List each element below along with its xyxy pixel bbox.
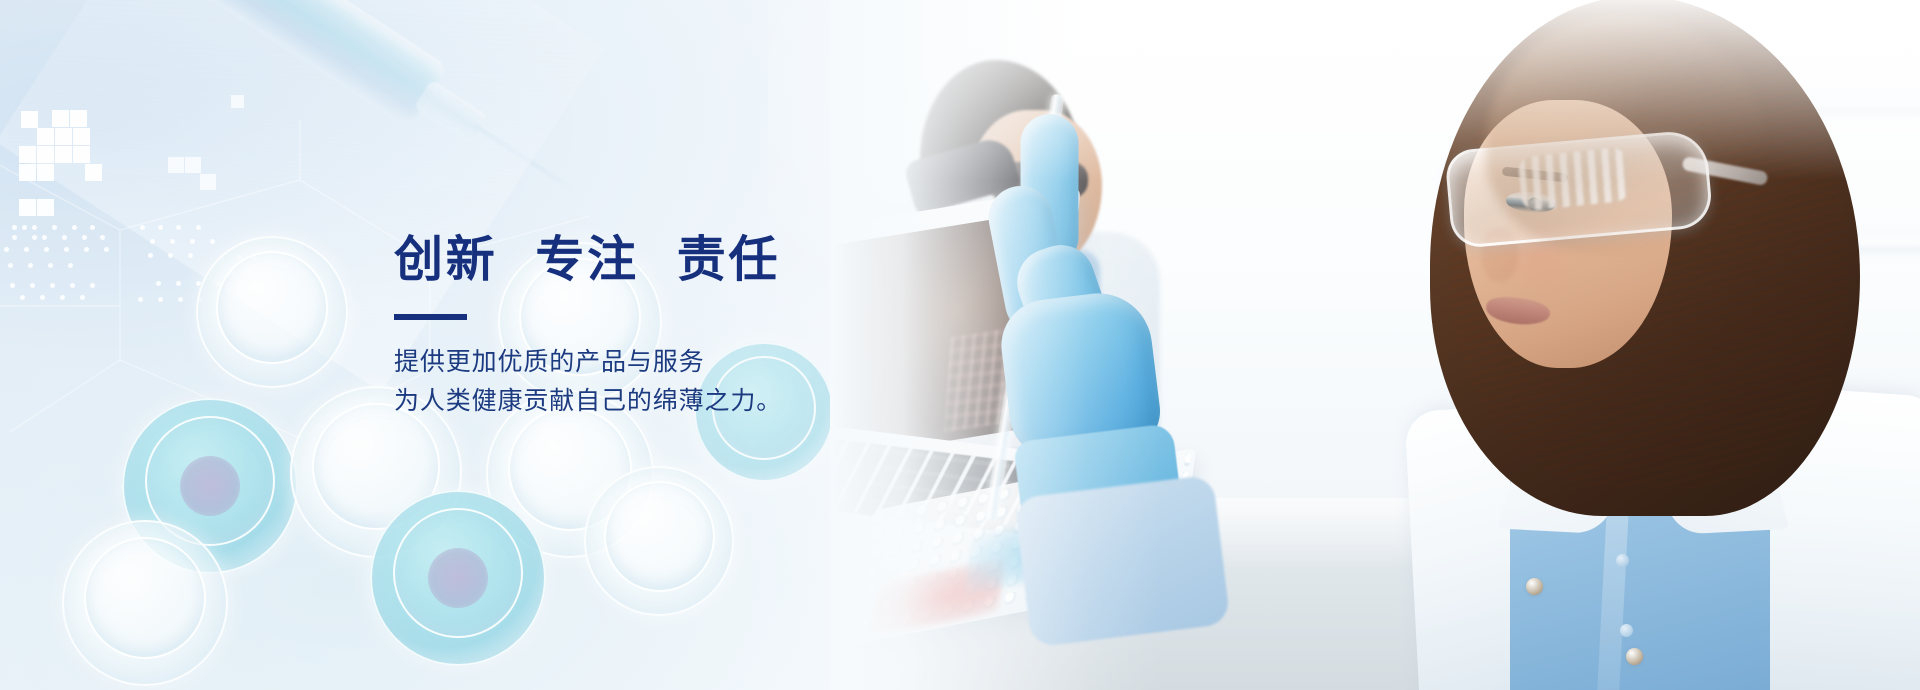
- petri-dish-core: [180, 456, 240, 516]
- hero-text-block: 创新专注责任 提供更加优质的产品与服务 为人类健康贡献自己的绵薄之力。: [394, 236, 782, 419]
- coat-button: [1626, 648, 1643, 665]
- pixel-square-decor: [200, 174, 216, 190]
- title-divider: [394, 314, 467, 320]
- petri-dish-rim: [604, 481, 715, 592]
- pixel-square-decor: [21, 111, 38, 128]
- petri-dish-rim: [84, 537, 207, 660]
- pixel-square-decor: [37, 164, 54, 181]
- pixel-square-decor: [73, 128, 90, 145]
- page-title: 创新专注责任: [394, 236, 782, 285]
- subtitle-line-1: 提供更加优质的产品与服务: [394, 344, 782, 381]
- pixel-square-decor: [19, 164, 36, 181]
- petri-dish-watermark: [62, 520, 228, 686]
- headline-word-2: 专注: [535, 233, 638, 287]
- lab-photo: [830, 0, 1920, 690]
- pixel-square-decor: [37, 146, 54, 163]
- pixel-square-decor: [85, 164, 102, 181]
- hero-banner: 创新专注责任 提供更加优质的产品与服务 为人类健康贡献自己的绵薄之力。: [0, 0, 1920, 690]
- pixel-square-decor: [37, 128, 54, 145]
- pixel-square-decor: [55, 128, 72, 145]
- shirt-button: [1616, 554, 1629, 567]
- petri-dish-core: [428, 548, 488, 608]
- coat-button: [1526, 578, 1543, 595]
- pixel-square-decor: [70, 110, 87, 127]
- headline-word-1: 创新: [394, 233, 497, 287]
- headline-word-3: 责任: [677, 233, 780, 287]
- pixel-square-decor: [19, 146, 36, 163]
- pixel-square-decor: [52, 110, 69, 127]
- petri-dish-rim: [216, 251, 328, 363]
- pixel-square-decor: [168, 157, 184, 173]
- petri-dish-watermark: [584, 466, 734, 616]
- pixel-square-decor: [73, 146, 90, 163]
- pixel-square-decor: [55, 146, 72, 163]
- pixel-square-decor: [231, 95, 244, 108]
- pixel-square-decor: [185, 157, 201, 173]
- shirt-button: [1620, 624, 1633, 637]
- petri-dish-watermark: [370, 490, 546, 666]
- photo-left-blend: [830, 0, 1160, 690]
- petri-dish-watermark: [196, 236, 348, 388]
- subtitle-line-2: 为人类健康贡献自己的绵薄之力。: [394, 383, 782, 420]
